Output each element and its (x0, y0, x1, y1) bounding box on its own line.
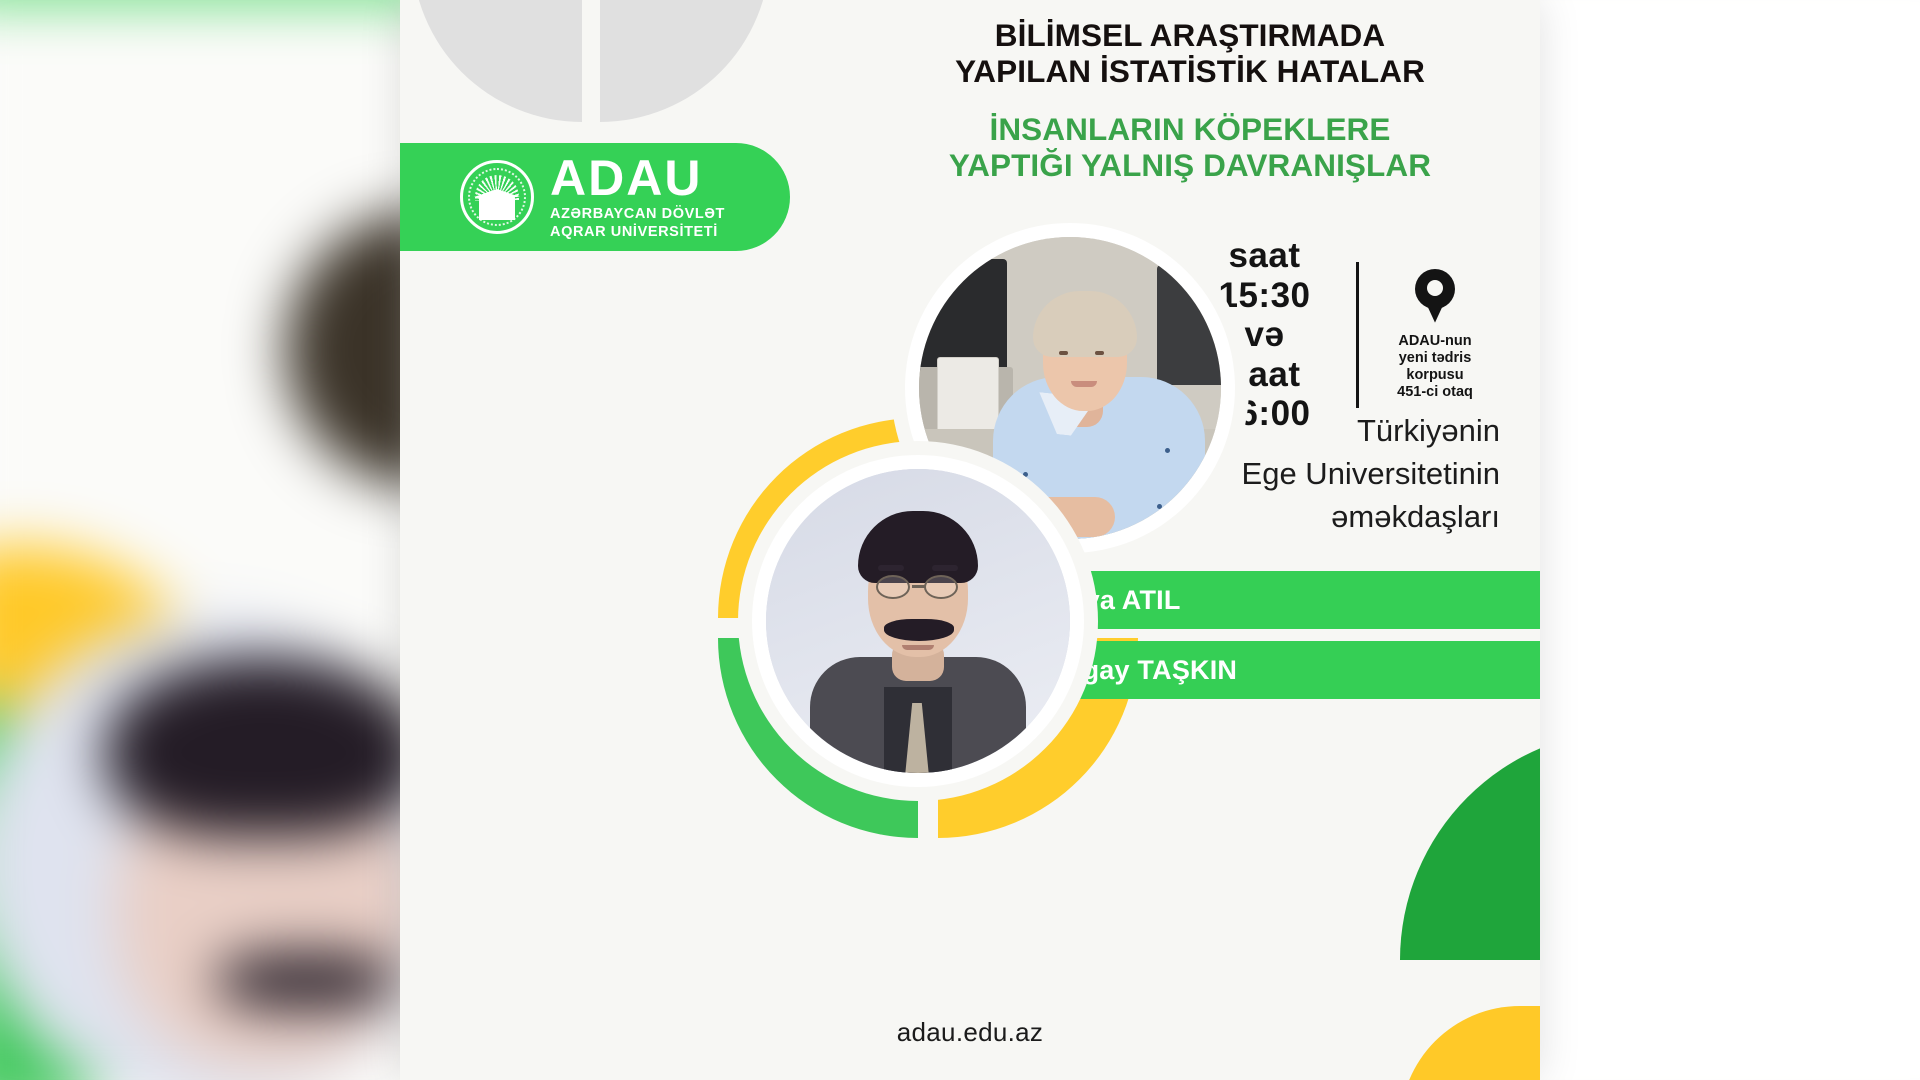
photo-monitor (919, 259, 1007, 371)
headline-line-2: YAPILAN İSTATİSTİK HATALAR (880, 54, 1500, 90)
photo-eye-right (1095, 351, 1104, 355)
adau-acronym: ADAU (550, 153, 725, 203)
headline-block: BİLİMSEL ARAŞTIRMADA YAPILAN İSTATİSTİK … (880, 18, 1500, 184)
poster-stage: ADAU AZƏRBAYCAN DÖVLƏT AQRAR UNİVERSİTET… (0, 0, 1920, 1080)
location-line-3: korpusu (1375, 367, 1495, 384)
adau-logo[interactable]: ADAU AZƏRBAYCAN DÖVLƏT AQRAR UNİVERSİTET… (400, 143, 790, 251)
photo-eye-left (1059, 351, 1068, 355)
photo-brow-right (932, 565, 958, 571)
adau-seal-icon (460, 160, 534, 234)
photo-brow-left (878, 565, 904, 571)
pin-hole (1427, 280, 1443, 296)
location-line-4: 451-ci otaq (1375, 384, 1495, 401)
website-url[interactable]: adau.edu.az (400, 1017, 1540, 1048)
headline-secondary: İNSANLARIN KÖPEKLERE YAPTIĞI YALNIŞ DAVR… (880, 112, 1500, 184)
adau-full-name: AZƏRBAYCAN DÖVLƏT AQRAR UNİVERSİTETİ (550, 206, 725, 241)
headline-line-1: BİLİMSEL ARAŞTIRMADA (880, 18, 1500, 54)
event-location-text: ADAU-nun yeni tədris korpusu 451-ci otaq (1375, 333, 1495, 401)
adau-name-line-1: AZƏRBAYCAN DÖVLƏT (550, 206, 725, 224)
poster-card: ADAU AZƏRBAYCAN DÖVLƏT AQRAR UNİVERSİTET… (400, 0, 1540, 1080)
photo-glasses-left (876, 575, 910, 599)
seal-building-icon (479, 196, 515, 220)
photo-mouth (1071, 381, 1097, 387)
headline-line-3: İNSANLARIN KÖPEKLERE (880, 112, 1500, 148)
photo-mouth (902, 645, 934, 650)
photo-moustache (884, 619, 954, 641)
location-line-1: ADAU-nun (1375, 333, 1495, 350)
photo-monitor-2 (1157, 265, 1221, 385)
portrait-image-2 (766, 469, 1070, 773)
adau-logo-text: ADAU AZƏRBAYCAN DÖVLƏT AQRAR UNİVERSİTET… (550, 153, 725, 241)
headline-primary: BİLİMSEL ARAŞTIRMADA YAPILAN İSTATİSTİK … (880, 18, 1500, 90)
decor-green-quarter-circle (1400, 730, 1540, 960)
photo-glasses-right (924, 575, 958, 599)
photo-shirt-motif (1157, 504, 1162, 509)
photo-glasses-bridge (912, 585, 926, 588)
event-location: ADAU-nun yeni tədris korpusu 451-ci otaq (1375, 269, 1495, 401)
blur-moustache (216, 953, 396, 1008)
photo-shirt-motif (1165, 448, 1170, 453)
map-pin-icon (1407, 269, 1463, 325)
headline-line-4: YAPTIĞI YALNIŞ DAVRANIŞLAR (880, 148, 1500, 184)
speaker-photo-turgay-taskin (752, 455, 1084, 787)
divider-2 (1356, 262, 1360, 408)
background-blur-left (0, 0, 434, 1080)
blur-hair (105, 657, 423, 837)
adau-name-line-2: AQRAR UNİVERSİTETİ (550, 224, 725, 242)
location-line-2: yeni tədris (1375, 350, 1495, 367)
